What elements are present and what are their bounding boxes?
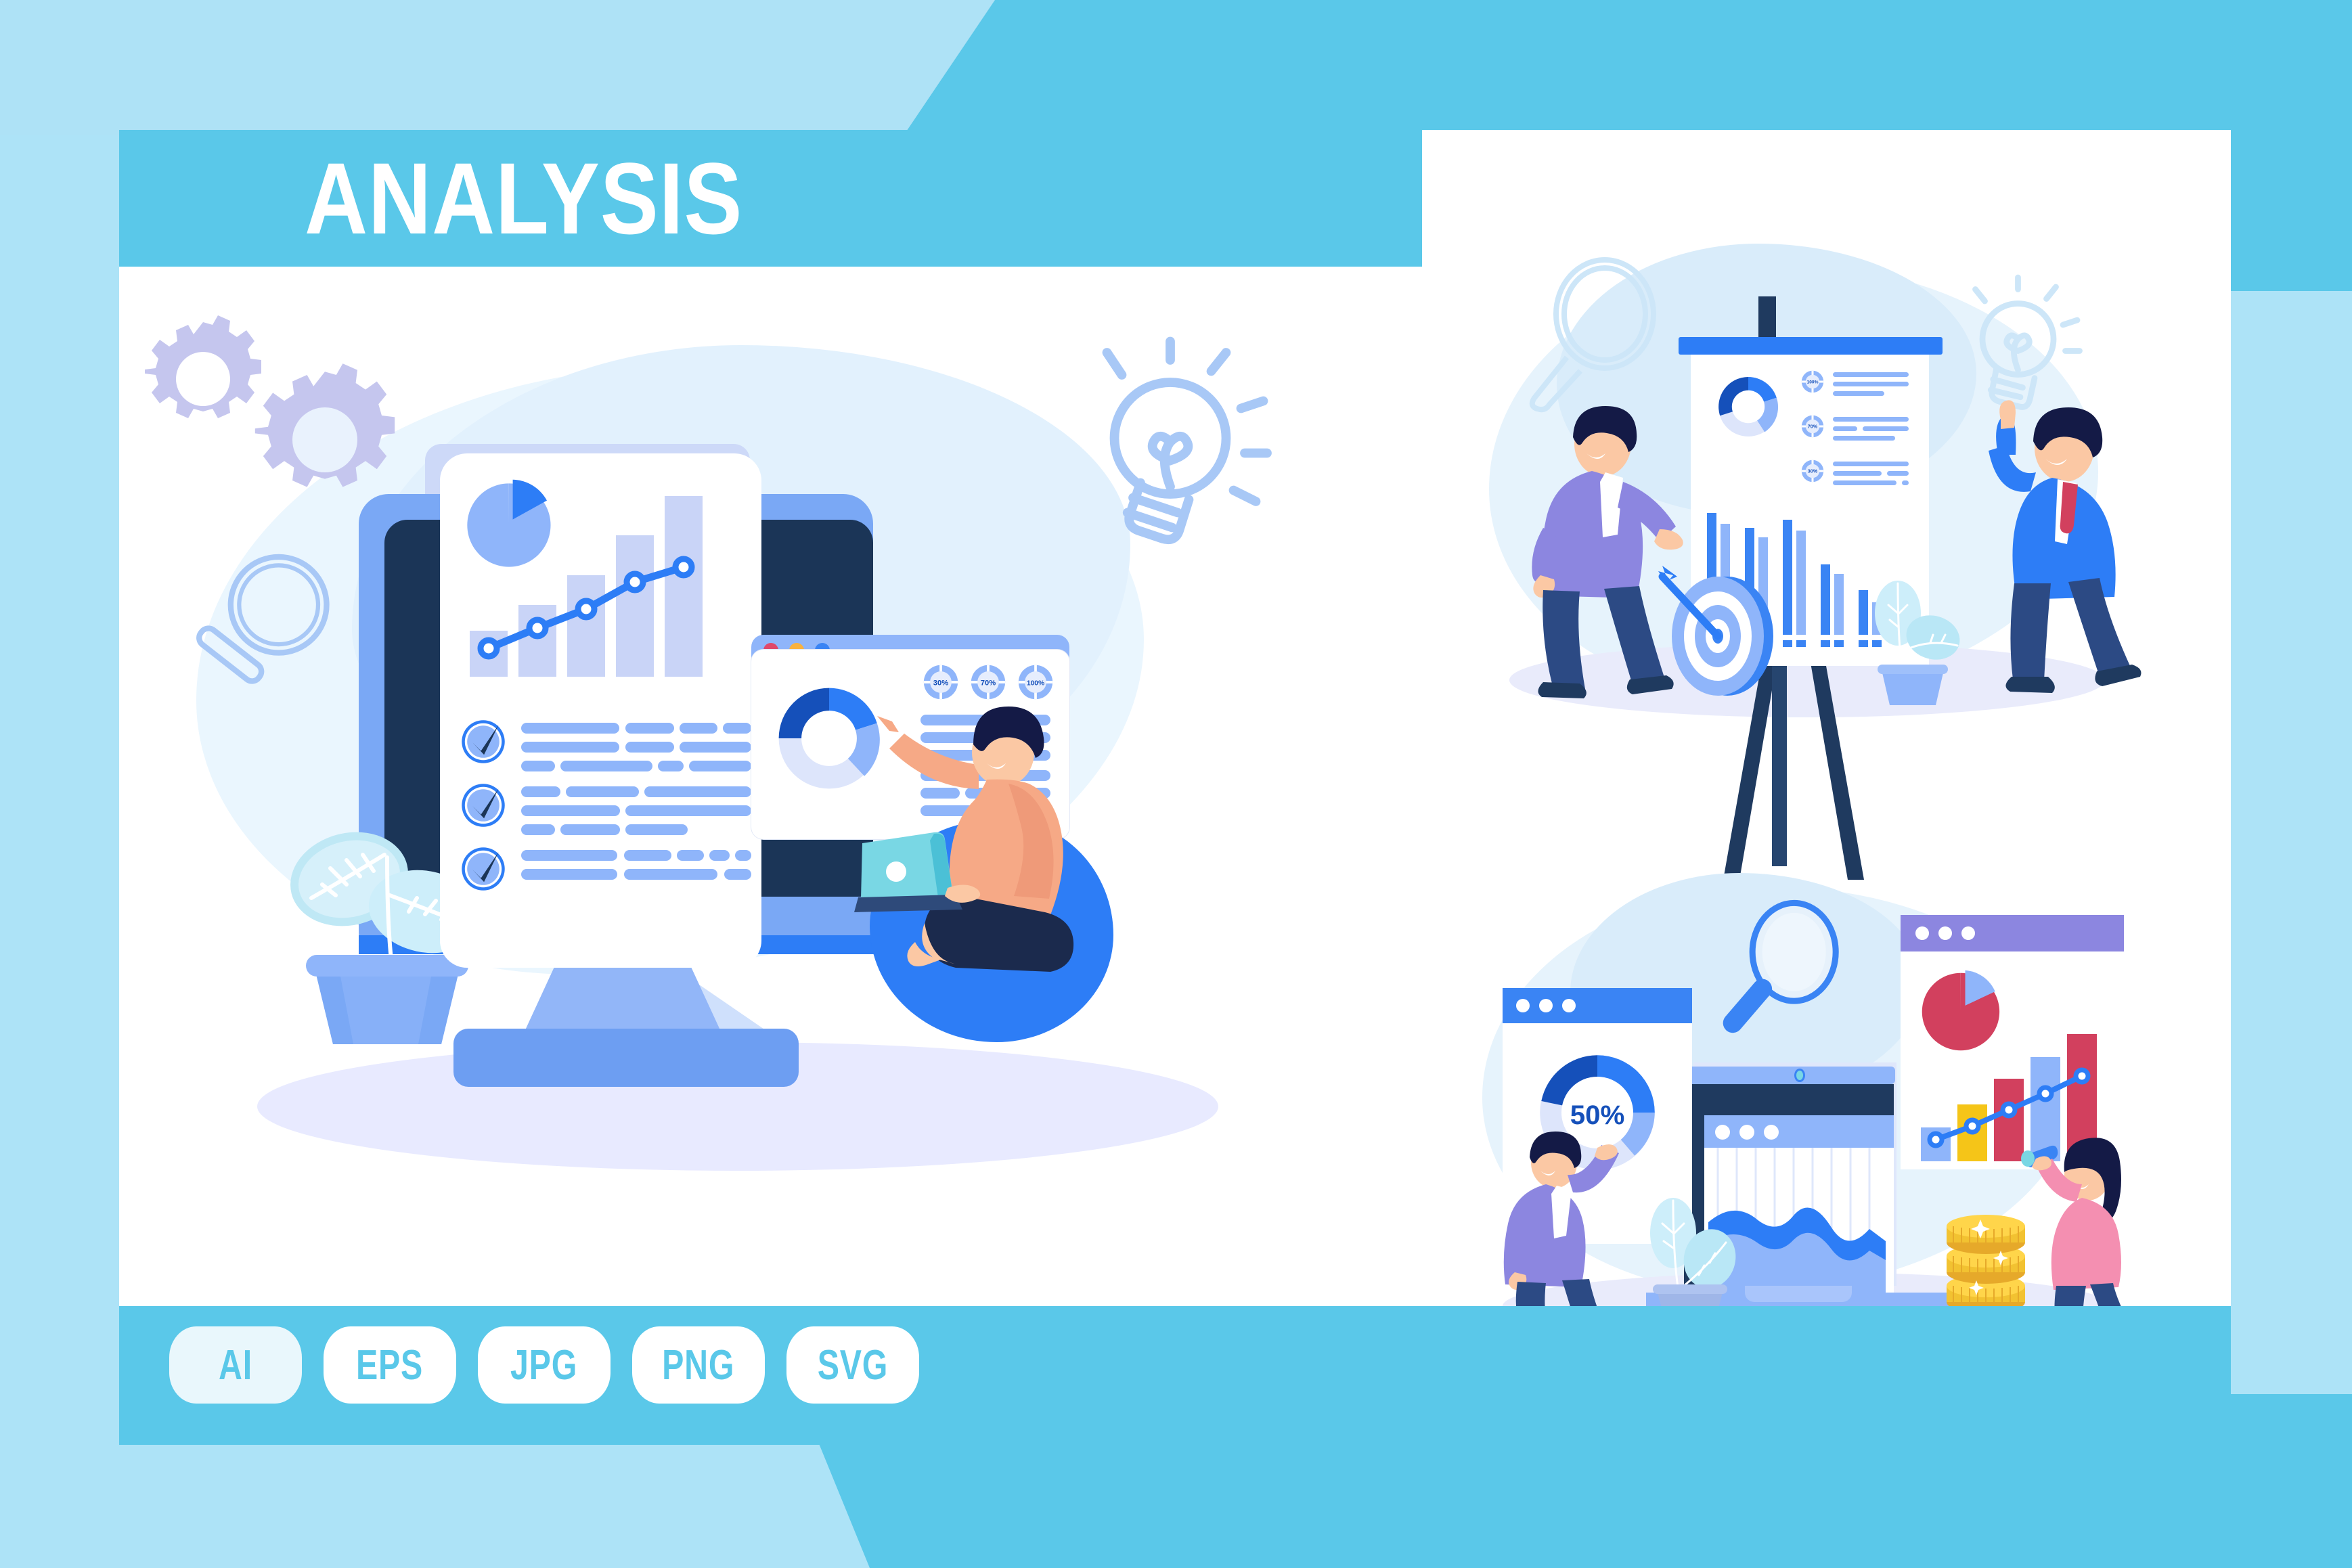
- text-line: [625, 742, 674, 753]
- svg-text:70%: 70%: [981, 679, 996, 688]
- text-line: [1833, 480, 1896, 485]
- text-line: [625, 723, 674, 734]
- svg-text:30%: 30%: [1808, 468, 1818, 474]
- text-line: [521, 786, 560, 797]
- text-line: [560, 824, 620, 835]
- format-label: EPS: [356, 1341, 423, 1389]
- format-label: JPG: [510, 1341, 577, 1389]
- dot-icon: [1739, 1125, 1754, 1140]
- text-line: [624, 850, 671, 861]
- text-line: [521, 742, 619, 753]
- page-title: ANALYSIS: [305, 148, 742, 249]
- text-line: [560, 761, 652, 771]
- monitor-top-bar: [1679, 1067, 1895, 1084]
- magnifier-icon: [1526, 257, 1662, 413]
- format-badge-eps[interactable]: EPS: [324, 1326, 456, 1404]
- text-line: [521, 824, 555, 835]
- text-line: [723, 723, 751, 734]
- trend-line: [440, 453, 761, 684]
- poster-canvas: ANALYSIS: [0, 0, 2352, 1568]
- dot-icon: [1938, 926, 1952, 940]
- laptop-title-bar: [1704, 1115, 1894, 1148]
- text-line: [521, 723, 619, 734]
- text-line: [624, 869, 717, 880]
- webcam-icon: [1792, 1068, 1807, 1083]
- text-line: [680, 723, 717, 734]
- text-line: [1833, 391, 1884, 396]
- formats-list: AI EPS JPG PNG SVG: [169, 1326, 919, 1404]
- dot-icon: [1562, 999, 1576, 1012]
- text-line: [1833, 382, 1909, 386]
- format-badge-jpg[interactable]: JPG: [478, 1326, 611, 1404]
- dot-icon: [1915, 926, 1929, 940]
- person-with-laptop: [846, 690, 1130, 1042]
- svg-text:100%: 100%: [1027, 680, 1044, 688]
- gauge-30-icon: 30%: [1800, 459, 1825, 483]
- monitor-base: [453, 1029, 799, 1087]
- text-line: [709, 850, 730, 861]
- text-line: [644, 786, 751, 797]
- svg-text:100%: 100%: [1807, 380, 1819, 384]
- magnifier-icon: [1718, 905, 1853, 1034]
- text-line: [724, 869, 751, 880]
- check-circle-icon: [460, 782, 506, 828]
- scene-presentation: 100% 70% 30%: [1475, 237, 2159, 751]
- format-label: AI: [219, 1341, 252, 1389]
- person-presenter-right: [1949, 399, 2152, 704]
- check-circle-icon: [460, 846, 506, 892]
- window-title-bar: [1901, 915, 2124, 951]
- text-line: [735, 850, 751, 861]
- text-line: [680, 742, 751, 753]
- svg-text:30%: 30%: [933, 679, 948, 688]
- text-line: [1863, 426, 1909, 431]
- text-line: [1833, 372, 1909, 377]
- main-illustration: 30% 70% 100%: [156, 284, 1340, 1245]
- dot-icon: [1539, 999, 1553, 1012]
- window-title-bar: [1503, 988, 1692, 1023]
- text-line: [521, 805, 620, 816]
- person-presenter-left: [1516, 406, 1719, 704]
- text-line: [1833, 436, 1895, 441]
- lightbulb-icon: [1066, 345, 1289, 572]
- text-line: [1887, 471, 1909, 476]
- text-line: [625, 824, 688, 835]
- text-line: [1833, 417, 1909, 422]
- text-line: [625, 805, 751, 816]
- svg-text:70%: 70%: [1808, 423, 1818, 429]
- format-badge-ai[interactable]: AI: [169, 1326, 302, 1404]
- format-label: PNG: [662, 1341, 734, 1389]
- text-line: [1902, 480, 1909, 485]
- check-circle-icon: [460, 719, 506, 765]
- text-line: [1833, 426, 1857, 431]
- text-line: [689, 761, 751, 771]
- donut-chart: [1711, 369, 1785, 444]
- format-badge-png[interactable]: PNG: [632, 1326, 765, 1404]
- laptop-notch: [1745, 1286, 1852, 1302]
- format-badge-svg[interactable]: SVG: [786, 1326, 919, 1404]
- text-line: [566, 786, 639, 797]
- dot-icon: [1715, 1125, 1730, 1140]
- dot-icon: [1764, 1125, 1779, 1140]
- scene-dashboard: 50%: [1475, 866, 2159, 1347]
- gauge-70-icon: 70%: [1800, 414, 1825, 439]
- lightbulb-icon: [1949, 277, 2091, 420]
- report-card: [440, 453, 761, 968]
- text-line: [1833, 471, 1882, 476]
- text-line: [521, 850, 617, 861]
- text-line: [677, 850, 704, 861]
- magnifier-icon: [183, 541, 352, 714]
- text-line: [658, 761, 684, 771]
- dot-icon: [1516, 999, 1530, 1012]
- dot-icon: [1961, 926, 1975, 940]
- text-line: [1833, 462, 1909, 466]
- gauge-100-icon: 100%: [1800, 369, 1825, 394]
- board-rail: [1679, 337, 1943, 355]
- text-line: [521, 869, 617, 880]
- donut-center-label: 50%: [1570, 1100, 1625, 1130]
- format-label: SVG: [818, 1341, 888, 1389]
- text-line: [521, 761, 555, 771]
